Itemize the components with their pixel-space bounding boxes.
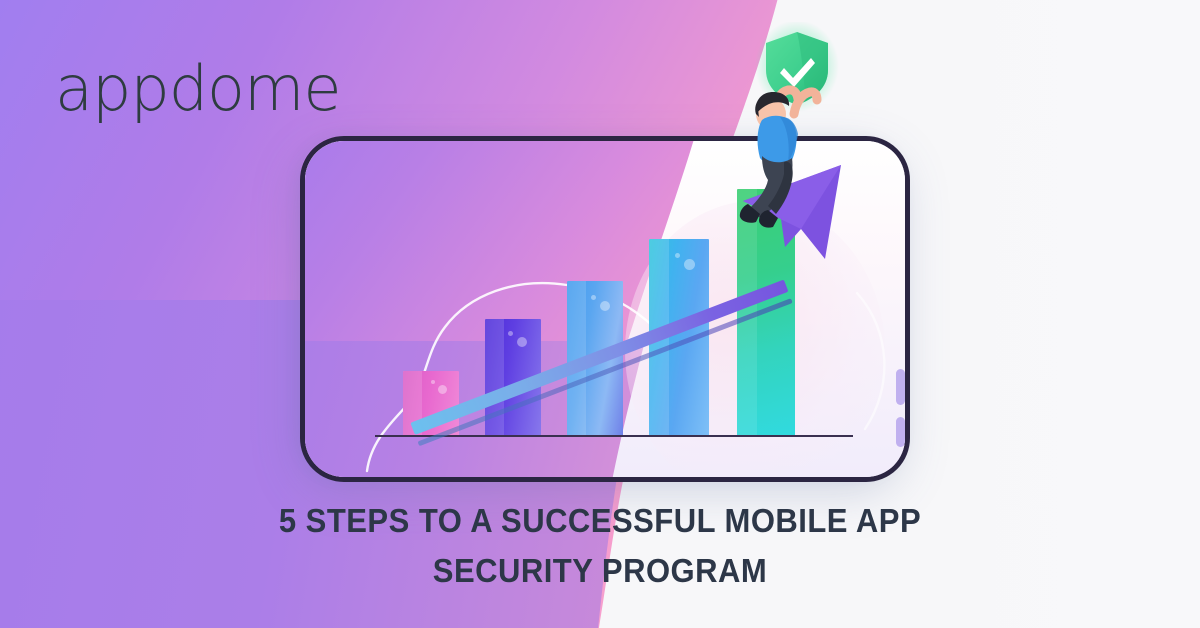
bar-sparkle (517, 337, 527, 347)
poster-canvas: appdome 5 STEPS TO A SUCCESSFUL MOBILE A… (0, 0, 1200, 628)
phone-side-button-upper[interactable] (896, 369, 905, 405)
page-title: 5 STEPS TO A SUCCESSFUL MOBILE APP SECUR… (36, 496, 1164, 596)
page-title-line-2: SECURITY PROGRAM (36, 546, 1164, 596)
person-holding-shield (718, 22, 848, 232)
phone-volume-button[interactable] (300, 384, 305, 440)
bar-sparkle (600, 301, 610, 311)
page-title-line-1: 5 STEPS TO A SUCCESSFUL MOBILE APP (36, 496, 1164, 546)
appdome-logo[interactable]: appdome (55, 58, 341, 120)
bar-sparkle (675, 253, 680, 258)
bar-sparkle (508, 331, 513, 336)
bar-sparkle (438, 385, 447, 394)
bar-sparkle (431, 380, 435, 384)
bar-sparkle (684, 259, 695, 270)
phone-side-button-lower[interactable] (896, 417, 905, 447)
bar-sparkle (591, 295, 596, 300)
